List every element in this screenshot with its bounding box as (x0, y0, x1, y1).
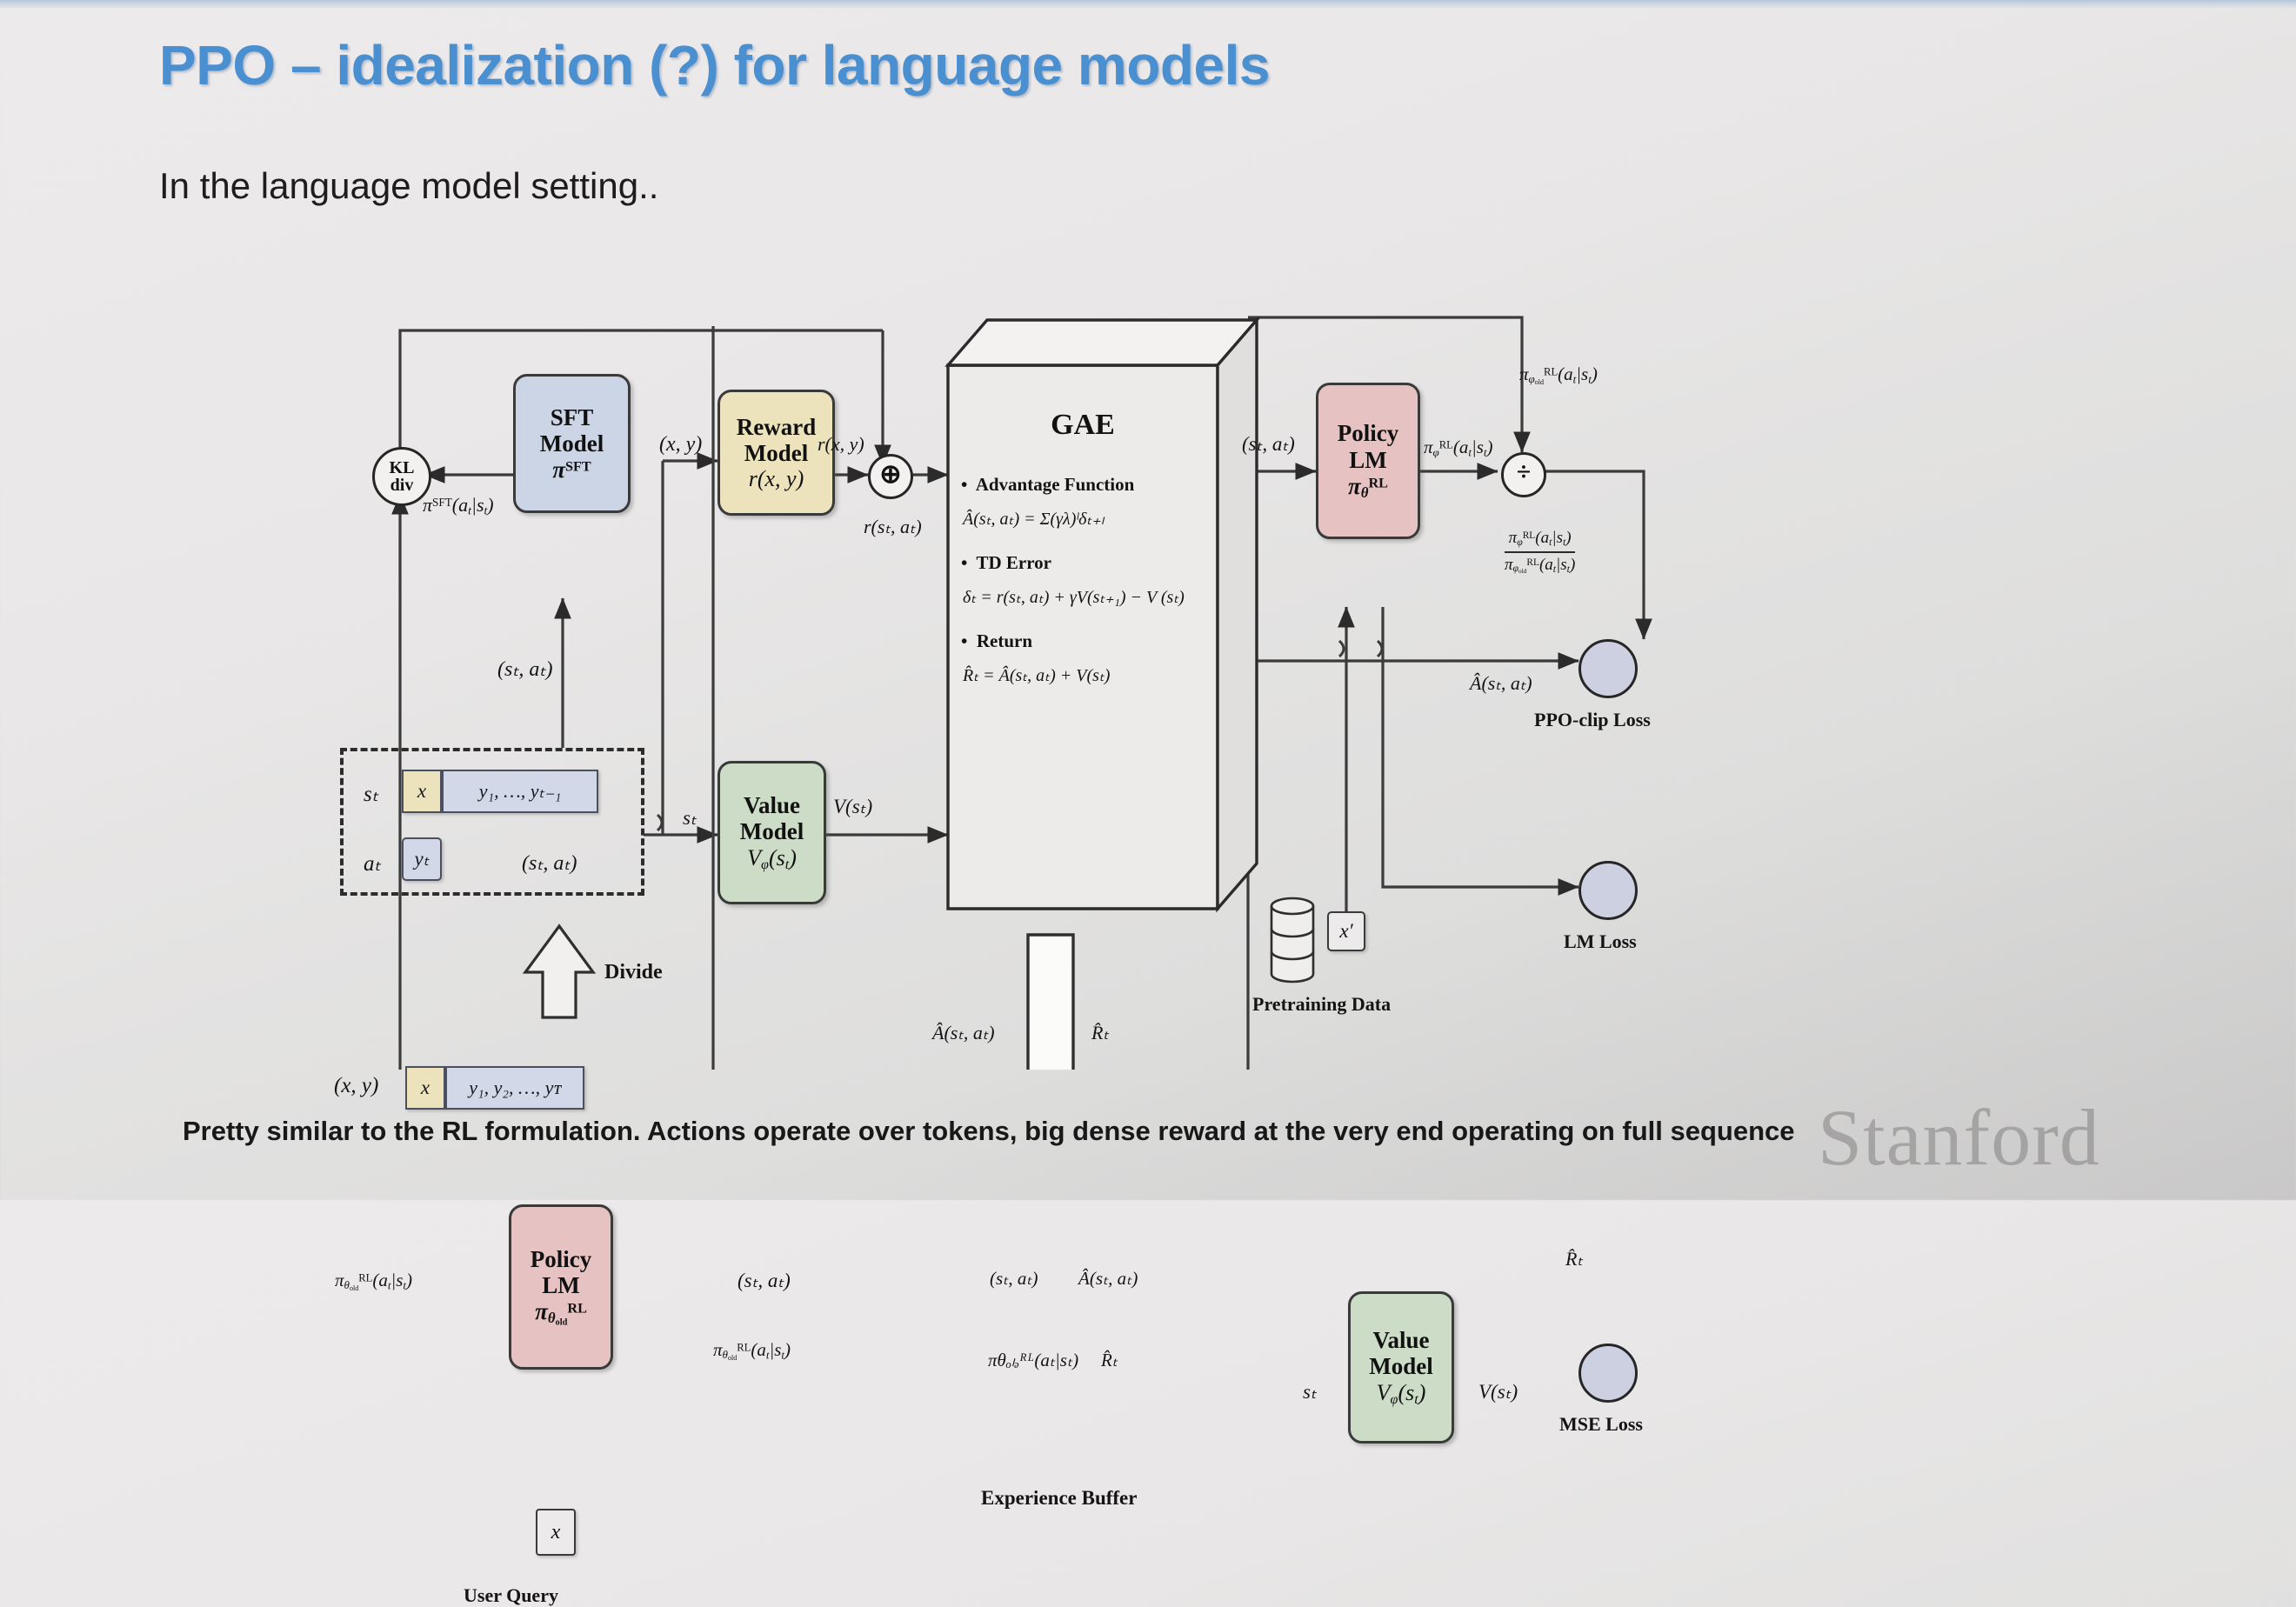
policy-lm-rl-line1: Policy (1338, 420, 1398, 446)
user-query-caption: User Query (464, 1584, 558, 1607)
state-x-token[interactable]: x (402, 770, 442, 813)
divide-circle-node[interactable]: ÷ (1501, 452, 1546, 497)
edge-pi-phi-label: πφRL(at|st) (1424, 437, 1493, 459)
reward-model-line1: Reward (737, 414, 816, 440)
policy-lm-old-line2: LM (542, 1272, 580, 1298)
kl-div-line2: div (390, 476, 414, 495)
gae-bullet-1: • TD Error (961, 552, 1222, 574)
policy-lm-rl-node[interactable]: Policy LM πθRL (1316, 383, 1420, 539)
edge-v-st-label: V(sₜ) (833, 796, 872, 818)
gae-title: GAE (948, 409, 1218, 442)
policy-lm-old-node[interactable]: Policy LM πθoldRL (509, 1204, 613, 1370)
edge-v-st-mse-label: V(sₜ) (1478, 1381, 1518, 1404)
divide-arrow (525, 926, 593, 1017)
value-model-bottom-line2: Model (1369, 1353, 1433, 1379)
edge-r-hat-label: R̂ₜ (1091, 1022, 1109, 1044)
gae-bullet-0: • Advantage Function (961, 474, 1222, 496)
buffer-row2-left: πθₒₗₔᴿᴸ(aₜ|sₜ) (988, 1350, 1078, 1371)
value-model-top-node[interactable]: Value Model Vφ(st) (717, 761, 826, 904)
edge-adv-buffer-label: Â(sₜ, aₜ) (932, 1022, 995, 1044)
ppo-lm-diagram: KL div SFT Model πSFT Reward Model r(x, … (348, 287, 2000, 1070)
gae-to-buffer-arrow (1004, 935, 1098, 1070)
edge-pi-theta-old-left-label: πθoldRL(at|st) (335, 1270, 412, 1292)
x-prime-token[interactable]: x′ (1327, 911, 1365, 951)
policy-lm-rl-line2: LM (1349, 447, 1387, 473)
state-action-pair-label: (sₜ, aₜ) (522, 850, 577, 876)
edge-st-at-up-label: (sₜ, aₜ) (497, 657, 552, 682)
buffer-row1-left: (sₜ, aₜ) (990, 1268, 1038, 1290)
edge-r-st-at-label: r(sₜ, aₜ) (864, 516, 922, 538)
edge-adv-hat-label: Â(sₜ, aₜ) (1470, 672, 1532, 695)
edge-xy-reward-label: (x, y) (659, 433, 702, 457)
stanford-watermark: Stanford (1818, 1091, 2100, 1184)
edge-st-at-policy-label: (sₜ, aₜ) (1242, 433, 1295, 456)
ppo-clip-loss-label: PPO-clip Loss (1534, 709, 1651, 731)
user-query-x-token[interactable]: x (536, 1509, 576, 1556)
state-label: sₜ (364, 781, 378, 807)
mse-loss-label: MSE Loss (1559, 1413, 1643, 1436)
experience-buffer-caption: Experience Buffer (981, 1487, 1137, 1510)
gae-bullet-2: • Return (961, 630, 1222, 652)
buffer-row1-right: Â(sₜ, aₜ) (1078, 1268, 1138, 1290)
full-y-token[interactable]: y₁, y₂, …, yᴛ (445, 1066, 584, 1110)
value-model-bottom-line1: Value (1372, 1327, 1429, 1353)
edge-st-value-label: sₜ (683, 807, 697, 830)
sft-model-line2: Model (540, 430, 604, 457)
pretraining-data-shape (1271, 898, 1313, 982)
action-y-token[interactable]: yₜ (402, 837, 442, 881)
policy-lm-old-symbol: πθoldRL (535, 1298, 587, 1328)
slide-subtitle: In the language model setting.. (159, 165, 658, 207)
value-model-bottom-node[interactable]: Value Model Vφ(st) (1348, 1291, 1454, 1444)
ratio-denominator: πφoldRL(at|st) (1505, 553, 1575, 578)
ppo-clip-loss-node[interactable] (1578, 639, 1638, 698)
sum-circle-node[interactable]: ⊕ (868, 454, 913, 499)
plus-icon: ⊕ (879, 462, 901, 488)
edge-pi-theta-old-buffer-label: πθoldRL(at|st) (713, 1339, 791, 1362)
value-model-top-line2: Model (740, 818, 804, 844)
policy-lm-old-line1: Policy (531, 1246, 591, 1272)
xy-bottom-label: (x, y) (334, 1074, 378, 1098)
lm-loss-label: LM Loss (1564, 930, 1637, 953)
divide-icon: ÷ (1517, 459, 1531, 485)
divide-label: Divide (604, 961, 663, 984)
edge-st-value-bottom-label: sₜ (1303, 1381, 1317, 1404)
reward-model-line2: Model (744, 440, 809, 466)
edge-pi-phi-old-label: πφoldRL(at|st) (1519, 363, 1598, 386)
value-model-bottom-formula: Vφ(st) (1377, 1380, 1426, 1408)
page-title: PPO – idealization (?) for language mode… (159, 33, 1270, 97)
gae-formula-0: Â(sₜ, aₜ) = Σ(γλ)ˡδₜ₊ₗ (963, 508, 1222, 530)
lm-loss-node[interactable] (1578, 861, 1638, 920)
policy-lm-rl-symbol: πθRL (1348, 473, 1388, 502)
ratio-numerator: πφRL(at|st) (1505, 526, 1575, 551)
state-y-prefix-token[interactable]: y₁, …, yₜ₋₁ (442, 770, 598, 813)
reward-model-formula: r(x, y) (749, 466, 804, 491)
buffer-row2-right: R̂ₜ (1101, 1350, 1118, 1371)
value-model-top-line1: Value (744, 792, 800, 818)
edge-r-xy-label: r(x, y) (818, 433, 864, 456)
action-label: aₜ (364, 850, 381, 877)
slide-caption: Pretty similar to the RL formulation. Ac… (183, 1116, 1795, 1147)
gae-formula-1: δₜ = r(sₜ, aₜ) + γV(sₜ₊₁) − V (sₜ) (963, 586, 1222, 608)
gae-formula-2: R̂ₜ = Â(sₜ, aₜ) + V(sₜ) (963, 664, 1222, 686)
sft-model-policy-symbol: πSFT (552, 457, 591, 483)
ratio-fraction: πφRL(at|st) πφoldRL(at|st) (1505, 526, 1575, 577)
edge-st-at-buffer-label: (sₜ, aₜ) (738, 1270, 791, 1292)
kl-div-line1: KL (390, 458, 415, 477)
sft-model-node[interactable]: SFT Model πSFT (513, 374, 631, 513)
top-accent-band (0, 0, 2296, 8)
edge-pi-sft-label: πSFT(at|st) (423, 494, 494, 517)
value-model-top-formula: Vφ(st) (747, 845, 797, 873)
full-x-token[interactable]: x (405, 1066, 445, 1110)
sft-model-line1: SFT (551, 404, 594, 430)
edge-r-hat-mse-label: R̂ₜ (1565, 1248, 1583, 1270)
pretraining-data-caption: Pretraining Data (1252, 993, 1391, 1016)
mse-loss-node[interactable] (1578, 1344, 1638, 1403)
